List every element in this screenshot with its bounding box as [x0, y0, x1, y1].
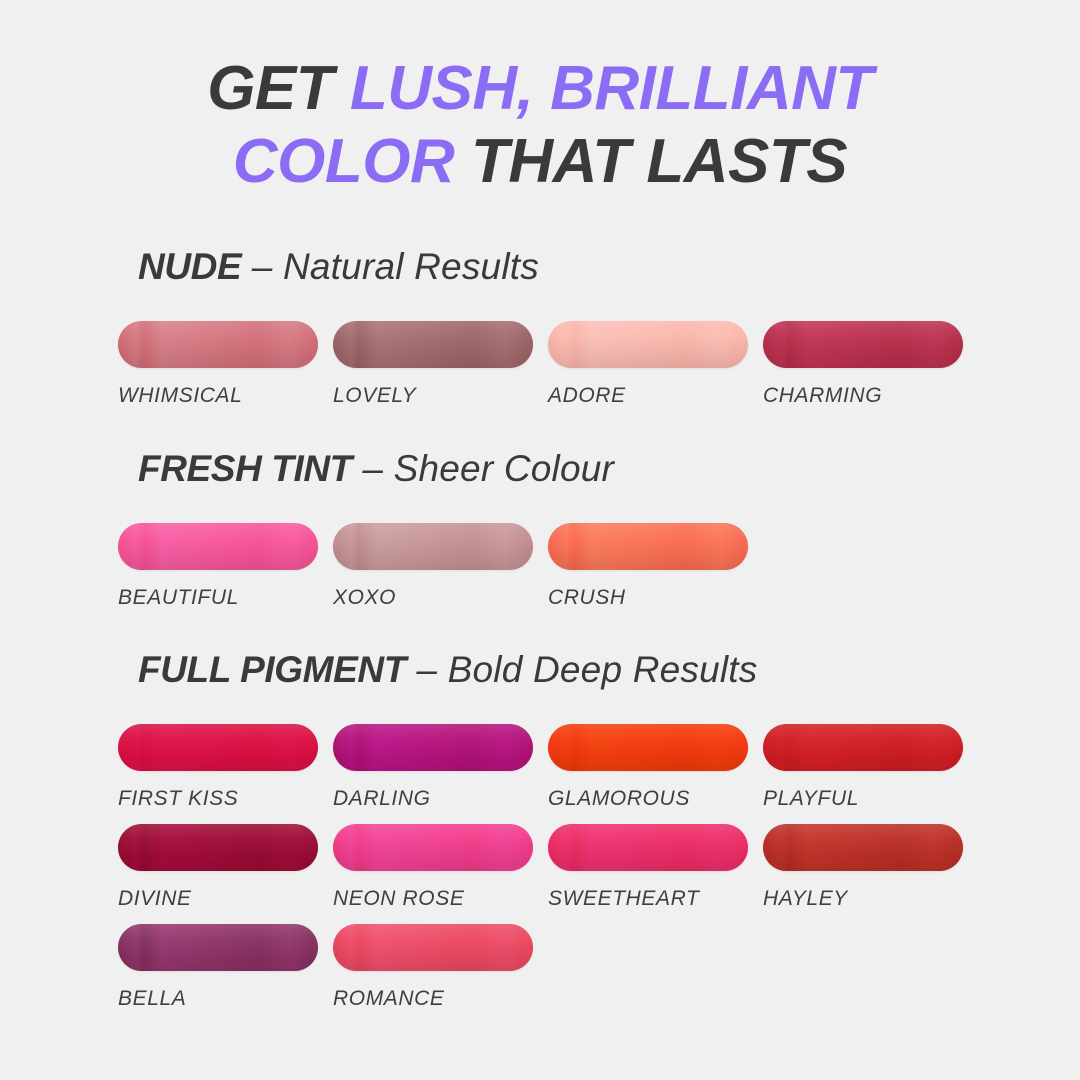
shade-swatch-label: CRUSH	[548, 587, 748, 608]
shade-swatch-label: PLAYFUL	[763, 788, 963, 809]
shade-swatch-label: WHIMSICAL	[118, 385, 318, 406]
shade-swatch-color[interactable]	[333, 824, 533, 871]
shade-swatch-item[interactable]: BEAUTIFUL	[118, 523, 318, 608]
section-heading: FRESH TINT – Sheer Colour	[138, 447, 1080, 491]
shade-swatch-item[interactable]: ROMANCE	[333, 924, 533, 1009]
section-heading-desc: – Natural Results	[241, 246, 539, 287]
shade-swatch-color[interactable]	[118, 724, 318, 771]
shade-swatch-color[interactable]	[548, 824, 748, 871]
section-heading-name: NUDE	[138, 246, 241, 287]
shade-swatch-label: ROMANCE	[333, 988, 533, 1009]
shade-swatch-color[interactable]	[118, 924, 318, 971]
shade-section-fresh-tint: FRESH TINT – Sheer ColourBEAUTIFULXOXOCR…	[0, 447, 1080, 623]
swatch-row: WHIMSICALLOVELYADORECHARMING	[0, 321, 1080, 421]
shade-swatch-color[interactable]	[118, 321, 318, 368]
shade-swatch-color[interactable]	[118, 824, 318, 871]
headline-line1-part1: GET	[207, 54, 350, 123]
section-heading-name: FULL PIGMENT	[138, 649, 406, 690]
shade-swatch-item[interactable]: CRUSH	[548, 523, 748, 608]
shade-swatch-label: GLAMOROUS	[548, 788, 748, 809]
shade-swatch-item[interactable]: DARLING	[333, 724, 533, 809]
shade-section-full-pigment: FULL PIGMENT – Bold Deep ResultsFIRST KI…	[0, 648, 1080, 1024]
swatch-row: BEAUTIFULXOXOCRUSH	[0, 523, 1080, 623]
shade-swatch-label: ADORE	[548, 385, 748, 406]
shade-swatch-item[interactable]: NEON ROSE	[333, 824, 533, 909]
shade-swatch-color[interactable]	[118, 523, 318, 570]
shade-swatch-label: CHARMING	[763, 385, 963, 406]
shade-swatch-label: HAYLEY	[763, 888, 963, 909]
shade-swatch-label: XOXO	[333, 587, 533, 608]
headline-line2-part2: THAT LASTS	[454, 127, 847, 196]
shade-swatch-label: NEON ROSE	[333, 888, 533, 909]
shade-swatch-item[interactable]: WHIMSICAL	[118, 321, 318, 406]
headline-line-1: GET LUSH, BRILLIANT	[0, 52, 1080, 125]
swatch-row: BELLAROMANCE	[0, 924, 1080, 1024]
shade-swatch-item[interactable]: ADORE	[548, 321, 748, 406]
swatch-row: FIRST KISSDARLINGGLAMOROUSPLAYFUL	[0, 724, 1080, 824]
shade-swatch-label: DIVINE	[118, 888, 318, 909]
page-title: GET LUSH, BRILLIANT COLOR THAT LASTS	[0, 52, 1080, 198]
shade-swatch-item[interactable]: BELLA	[118, 924, 318, 1009]
shade-swatch-label: DARLING	[333, 788, 533, 809]
swatch-rows: WHIMSICALLOVELYADORECHARMING	[0, 321, 1080, 421]
shade-swatch-color[interactable]	[548, 321, 748, 368]
shade-swatch-label: BELLA	[118, 988, 318, 1009]
shade-swatch-item[interactable]: XOXO	[333, 523, 533, 608]
section-heading: FULL PIGMENT – Bold Deep Results	[138, 648, 1080, 692]
shade-swatch-color[interactable]	[548, 523, 748, 570]
swatch-rows: BEAUTIFULXOXOCRUSH	[0, 523, 1080, 623]
shade-swatch-label: LOVELY	[333, 385, 533, 406]
shade-swatch-color[interactable]	[333, 924, 533, 971]
shade-swatch-label: FIRST KISS	[118, 788, 318, 809]
shade-swatch-color[interactable]	[763, 724, 963, 771]
headline-line1-accent: LUSH, BRILLIANT	[350, 54, 873, 123]
shade-swatch-item[interactable]: FIRST KISS	[118, 724, 318, 809]
shade-swatch-color[interactable]	[763, 824, 963, 871]
shade-swatch-item[interactable]: PLAYFUL	[763, 724, 963, 809]
shade-swatch-label: SWEETHEART	[548, 888, 748, 909]
lipstick-shade-chart: GET LUSH, BRILLIANT COLOR THAT LASTS NUD…	[0, 0, 1080, 1080]
shade-swatch-color[interactable]	[548, 724, 748, 771]
shade-swatch-item[interactable]: DIVINE	[118, 824, 318, 909]
shade-swatch-color[interactable]	[333, 724, 533, 771]
section-heading: NUDE – Natural Results	[138, 245, 1080, 289]
shade-section-nude: NUDE – Natural ResultsWHIMSICALLOVELYADO…	[0, 245, 1080, 421]
headline-line2-accent: COLOR	[233, 127, 454, 196]
shade-swatch-item[interactable]: SWEETHEART	[548, 824, 748, 909]
shade-swatch-color[interactable]	[763, 321, 963, 368]
section-heading-desc: – Bold Deep Results	[406, 649, 758, 690]
section-heading-name: FRESH TINT	[138, 448, 352, 489]
shade-swatch-item[interactable]: GLAMOROUS	[548, 724, 748, 809]
shade-swatch-label: BEAUTIFUL	[118, 587, 318, 608]
headline-line-2: COLOR THAT LASTS	[0, 125, 1080, 198]
swatch-rows: FIRST KISSDARLINGGLAMOROUSPLAYFULDIVINEN…	[0, 724, 1080, 1024]
shade-swatch-item[interactable]: HAYLEY	[763, 824, 963, 909]
shade-swatch-color[interactable]	[333, 321, 533, 368]
section-heading-desc: – Sheer Colour	[352, 448, 614, 489]
shade-swatch-color[interactable]	[333, 523, 533, 570]
swatch-row: DIVINENEON ROSESWEETHEARTHAYLEY	[0, 824, 1080, 924]
shade-swatch-item[interactable]: LOVELY	[333, 321, 533, 406]
shade-swatch-item[interactable]: CHARMING	[763, 321, 963, 406]
